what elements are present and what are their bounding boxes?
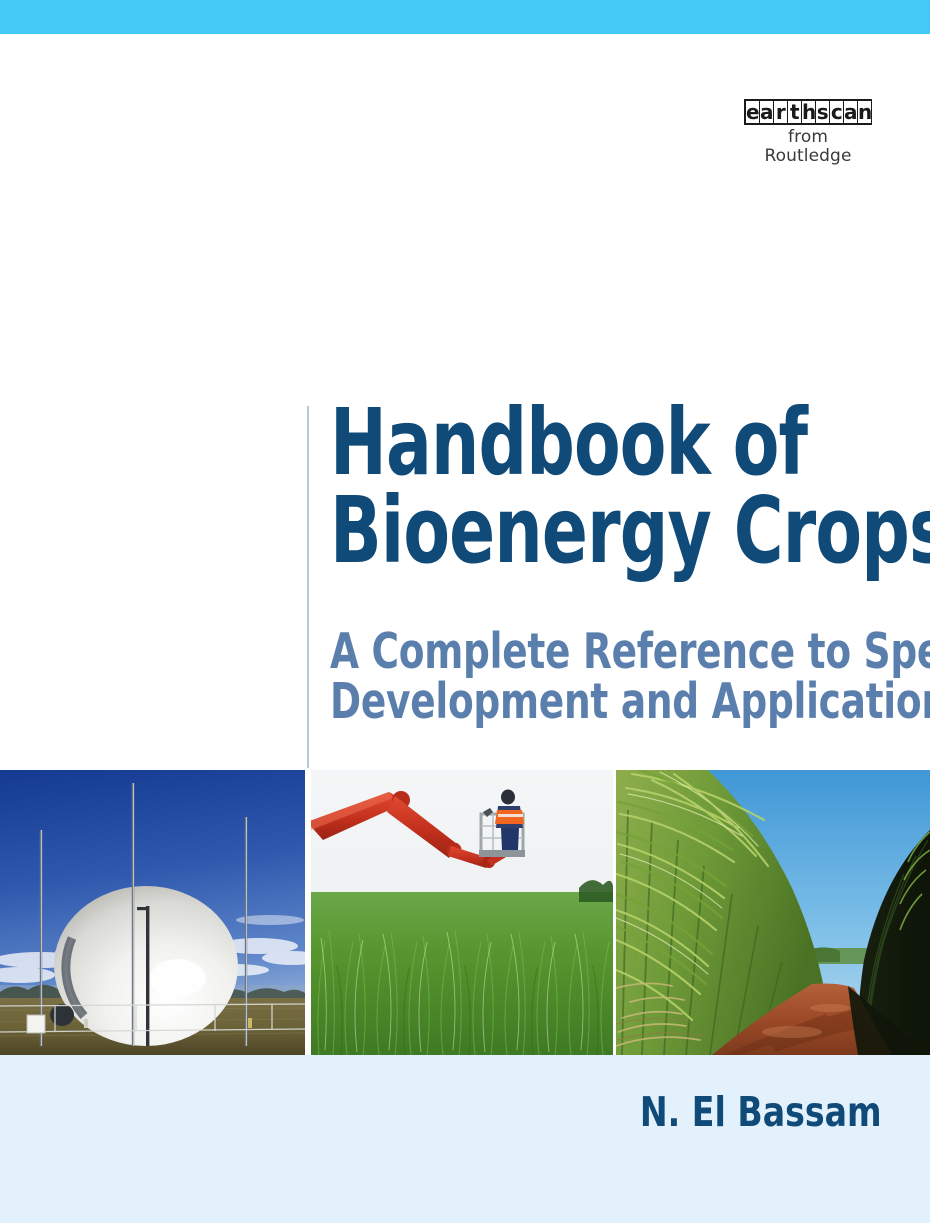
- wordmark-letter: r: [774, 101, 787, 123]
- top-accent-band: [0, 0, 930, 34]
- subtitle-line-1: A Complete Reference to Species,: [330, 627, 840, 677]
- title-line-2: Bioenergy Crops: [330, 487, 806, 575]
- wordmark-letter: a: [844, 101, 857, 123]
- publisher-logo: earthscan from Routledge: [744, 99, 872, 166]
- book-cover: earthscan from Routledge Handbook of Bio…: [0, 0, 930, 1223]
- page-title: Handbook of Bioenergy Crops: [330, 399, 910, 575]
- photo-boom-lift-grass-field: [311, 770, 613, 1055]
- author-panel: [0, 1055, 930, 1223]
- wordmark-letter: a: [760, 101, 773, 123]
- wordmark-letter: e: [746, 101, 759, 123]
- wordmark-letter: s: [816, 101, 829, 123]
- earthscan-wordmark: earthscan: [744, 99, 872, 125]
- title-vertical-rule: [307, 406, 309, 768]
- wordmark-letter: n: [858, 101, 871, 123]
- subtitle-line-2: Development and Applications: [330, 677, 840, 727]
- wordmark-letter: c: [830, 101, 843, 123]
- photo-sugarcane-track: [616, 770, 930, 1055]
- photo-biogas-digester: [0, 770, 305, 1055]
- biogas-digester-illustration: [0, 770, 305, 1055]
- publisher-tagline: from Routledge: [744, 128, 872, 166]
- wordmark-letter: h: [802, 101, 815, 123]
- page-subtitle: A Complete Reference to Species, Develop…: [330, 627, 930, 727]
- author-name: N. El Bassam: [640, 1090, 882, 1134]
- wordmark-letter: t: [788, 101, 801, 123]
- cover-photo-strip: [0, 770, 930, 1055]
- sugarcane-illustration: [616, 770, 930, 1055]
- boom-lift-illustration: [311, 770, 613, 1055]
- title-line-1: Handbook of: [330, 399, 806, 487]
